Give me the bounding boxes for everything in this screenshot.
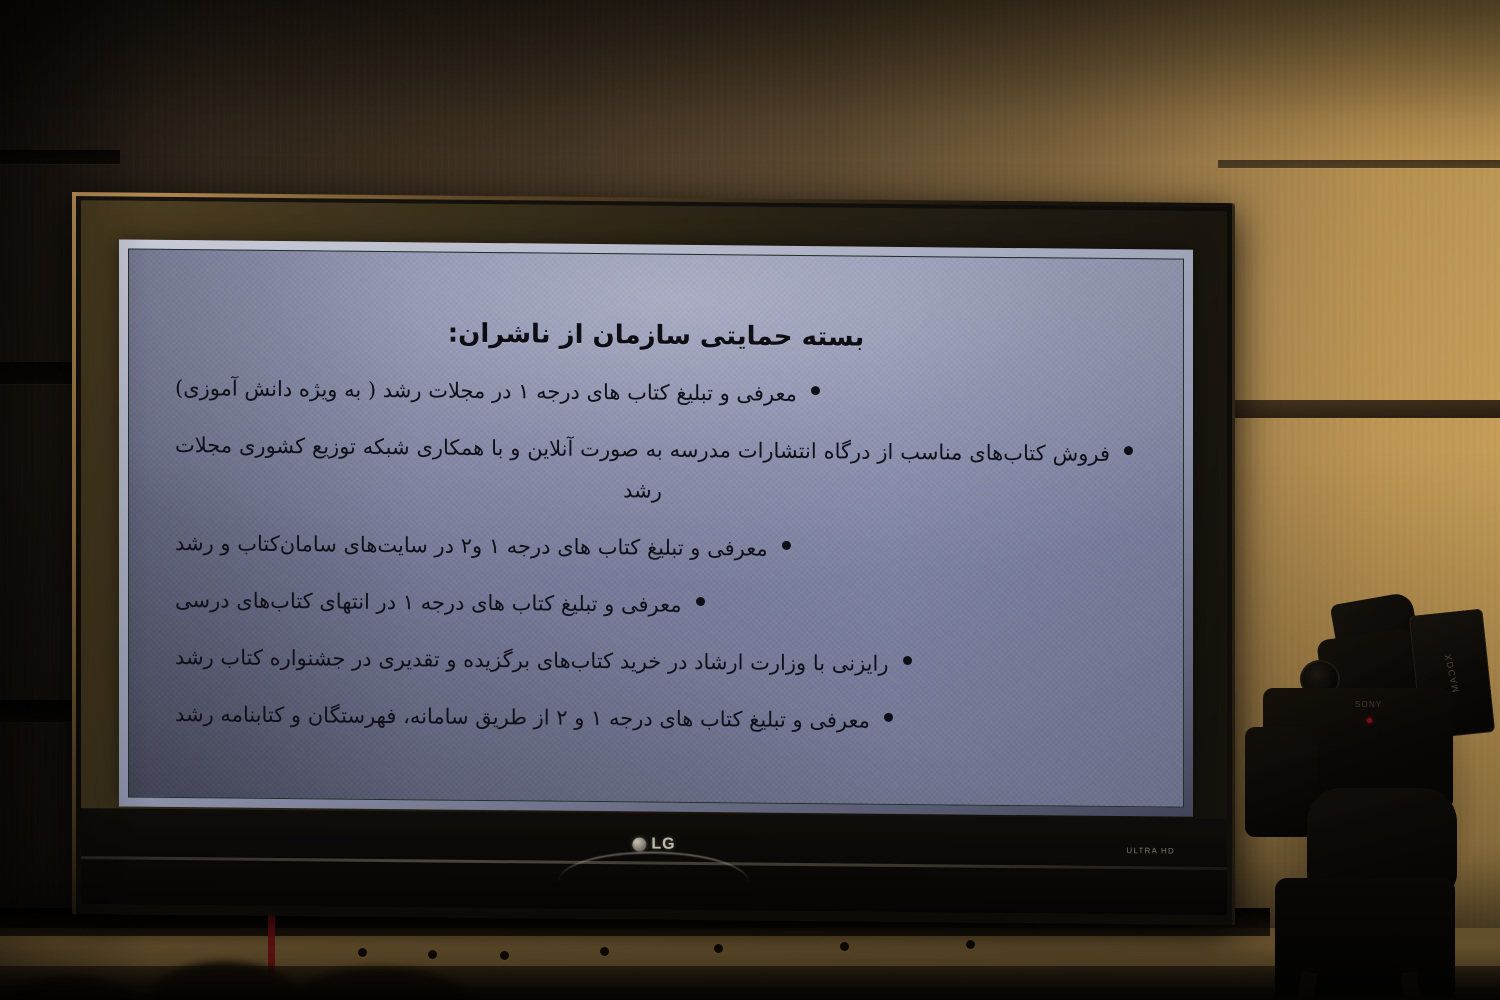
- bullet-text: معرفی و تبلیغ کتاب های درجه ۱ در مجلات ر…: [175, 368, 797, 415]
- wall-perforation: [358, 948, 367, 957]
- presentation-slide[interactable]: بسته حمایتی سازمان از ناشران: معرفی و تب…: [128, 249, 1184, 808]
- lg-brand-logo: LG: [632, 835, 675, 853]
- bullet-text: معرفی و تبلیغ کتاب های درجه ۱ در انتهای …: [175, 580, 682, 626]
- list-item: معرفی و تبلیغ کتاب های درجه ۱ و ۲ از طری…: [175, 694, 1137, 744]
- bullet-dot-icon: [782, 541, 791, 550]
- tv-edge-highlight: [72, 192, 76, 914]
- bullet-dot-icon: [811, 386, 820, 395]
- bullet-text: معرفی و تبلیغ کتاب های درجه ۱ و۲ در سایت…: [175, 523, 768, 570]
- bullet-dot-icon: [884, 712, 893, 721]
- sony-brand-text: SONY: [1355, 700, 1382, 709]
- wall-perforation: [428, 950, 437, 959]
- bullet-dot-icon: [1124, 446, 1133, 455]
- list-item: معرفی و تبلیغ کتاب های درجه ۱ و۲ در سایت…: [175, 523, 1137, 573]
- tv-edge-highlight: [1232, 203, 1235, 925]
- lg-logo-text: LG: [651, 836, 675, 854]
- list-item: معرفی و تبلیغ کتاب های درجه ۱ در مجلات ر…: [175, 368, 1137, 418]
- lg-ring-icon: [632, 837, 646, 851]
- slide-content: بسته حمایتی سازمان از ناشران: معرفی و تب…: [129, 250, 1183, 781]
- wall-perforation: [966, 940, 975, 949]
- bullet-dot-icon: [903, 656, 912, 665]
- slide-mat-border: بسته حمایتی سازمان از ناشران: معرفی و تب…: [119, 239, 1193, 816]
- bullet-text: رایزنی با وزارت ارشاد در خرید کتاب‌های ب…: [175, 637, 889, 685]
- presentation-room-photo: بسته حمایتی سازمان از ناشران: معرفی و تب…: [0, 0, 1500, 1000]
- ultra-hd-badge: ULTRA HD: [1126, 846, 1175, 855]
- slide-bullet-list: معرفی و تبلیغ کتاب های درجه ۱ در مجلات ر…: [175, 368, 1137, 744]
- wall-perforation: [600, 947, 609, 956]
- slide-title: بسته حمایتی سازمان از ناشران:: [175, 316, 1137, 355]
- list-item: فروش کتاب‌های مناسب از درگاه انتشارات مد…: [175, 425, 1137, 516]
- list-item: رایزنی با وزارت ارشاد در خرید کتاب‌های ب…: [175, 637, 1137, 687]
- video-camera-on-tripod: XDCAM SONY: [1245, 592, 1500, 1000]
- tv-stand-curve: [559, 851, 749, 883]
- wall-perforation: [714, 944, 723, 953]
- bullet-text: فروش کتاب‌های مناسب از درگاه انتشارات مد…: [175, 425, 1110, 516]
- xdcam-logo-text: XDCAM: [1443, 653, 1461, 694]
- bullet-dot-icon: [696, 597, 705, 606]
- lg-television[interactable]: بسته حمایتی سازمان از ناشران: معرفی و تب…: [72, 192, 1235, 925]
- list-item: معرفی و تبلیغ کتاب های درجه ۱ در انتهای …: [175, 580, 1137, 630]
- wall-perforation: [840, 942, 849, 951]
- tv-bottom-bezel: LG ULTRA HD: [81, 808, 1227, 915]
- record-light-icon: [1367, 718, 1372, 723]
- bullet-text: معرفی و تبلیغ کتاب های درجه ۱ و ۲ از طری…: [175, 694, 870, 742]
- wall-perforation: [500, 951, 509, 960]
